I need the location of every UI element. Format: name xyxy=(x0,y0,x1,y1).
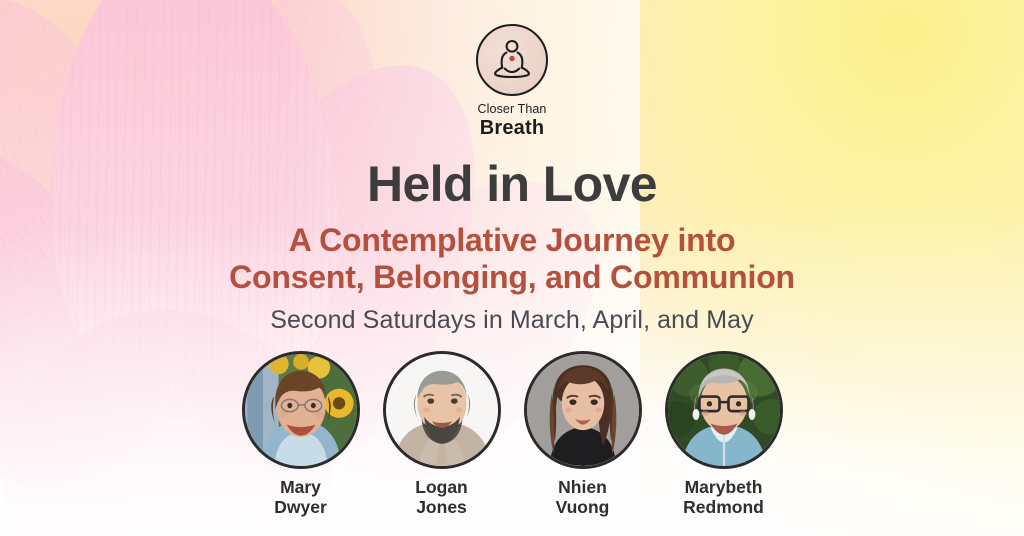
presenter-name: Nhien Vuong xyxy=(556,478,610,518)
brand-logo: Closer Than Breath xyxy=(476,24,548,139)
avatar xyxy=(383,351,501,469)
presenter-name: Logan Jones xyxy=(415,478,468,518)
logo-tagline-top: Closer Than xyxy=(478,103,547,116)
presenter-card: Logan Jones xyxy=(377,351,507,518)
avatar xyxy=(524,351,642,469)
presenter-card: Mary Dwyer xyxy=(236,351,366,518)
presenter-name: Marybeth Redmond xyxy=(683,478,764,518)
subtitle-line-2: Consent, Belonging, and Communion xyxy=(229,259,795,296)
presenter-card: Marybeth Redmond xyxy=(659,351,789,518)
presenter-card: Nhien Vuong xyxy=(518,351,648,518)
avatar xyxy=(242,351,360,469)
promotional-banner: Closer Than Breath Held in Love A Contem… xyxy=(0,0,1024,536)
meditating-figure-icon xyxy=(476,24,548,96)
avatar xyxy=(665,351,783,469)
presenter-name: Mary Dwyer xyxy=(274,478,327,518)
schedule-text: Second Saturdays in March, April, and Ma… xyxy=(270,308,754,333)
page-subtitle: A Contemplative Journey into Consent, Be… xyxy=(229,222,795,297)
logo-wordmark: Breath xyxy=(480,118,545,139)
banner-content: Closer Than Breath Held in Love A Contem… xyxy=(0,0,1024,536)
presenter-list: Mary Dwyer xyxy=(236,351,789,518)
page-title: Held in Love xyxy=(367,159,657,209)
subtitle-line-1: A Contemplative Journey into xyxy=(229,222,795,259)
